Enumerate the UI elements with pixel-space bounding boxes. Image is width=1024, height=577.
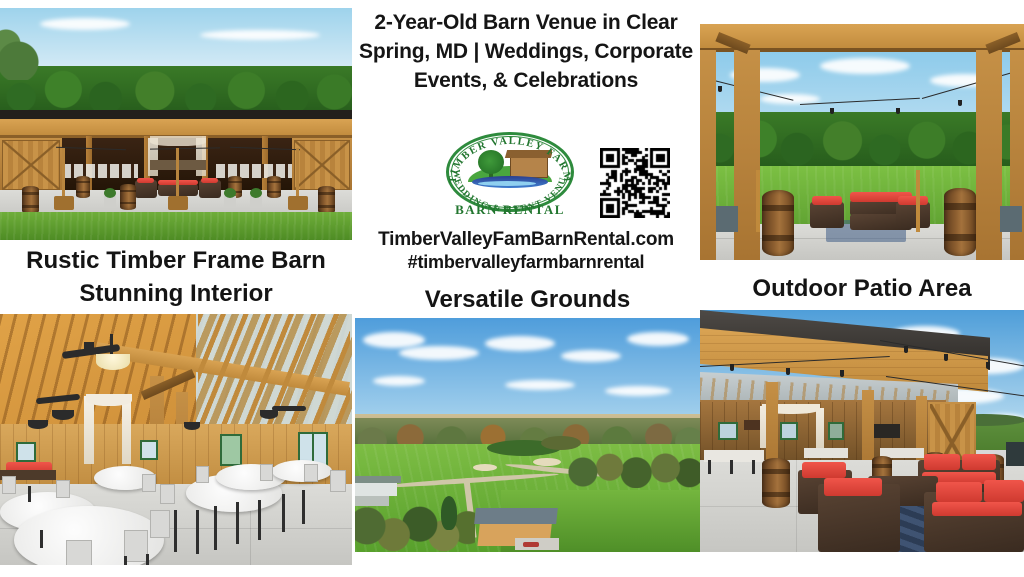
covered-patio-field-photo bbox=[700, 24, 1024, 260]
qr-code[interactable] bbox=[600, 148, 670, 218]
aerial-grounds-photo bbox=[355, 318, 700, 552]
collage-canvas: 2-Year-Old Barn Venue in Clear Spring, M… bbox=[0, 0, 1024, 577]
caption-stunning-interior: Stunning Interior bbox=[0, 280, 352, 308]
caption-versatile-grounds: Versatile Grounds bbox=[355, 286, 700, 314]
hashtag[interactable]: #timbervalleyfarmbarnrental bbox=[352, 251, 700, 274]
headline: 2-Year-Old Barn Venue in Clear Spring, M… bbox=[352, 8, 700, 95]
logo-top-arc-label: TIMBER VALLEY FARM bbox=[448, 136, 573, 184]
contact-block: TimberValleyFamBarnRental.com #timberval… bbox=[352, 228, 700, 274]
logo-barn-rental-label: BARN RENTAL bbox=[440, 202, 580, 218]
barn-interior-photo bbox=[0, 314, 352, 565]
barn-exterior-photo bbox=[0, 8, 352, 240]
brand-logo: TIMBER VALLEY FARM WEDDING & EVENT VENUE… bbox=[440, 132, 580, 222]
caption-rustic-timber-frame-barn: Rustic Timber Frame Barn bbox=[0, 247, 352, 275]
caption-outdoor-patio-area: Outdoor Patio Area bbox=[700, 275, 1024, 303]
website-url[interactable]: TimberValleyFamBarnRental.com bbox=[352, 228, 700, 251]
outdoor-patio-seating-photo bbox=[700, 310, 1024, 552]
